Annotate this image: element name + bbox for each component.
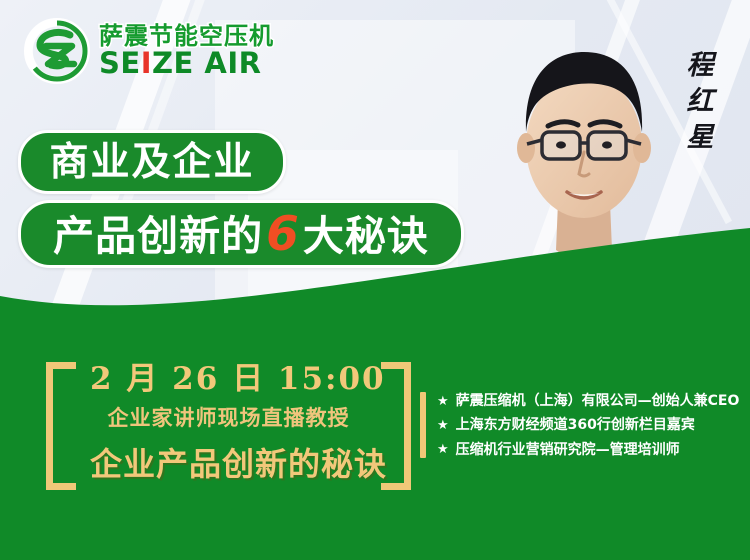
star-icon: ★ (437, 395, 449, 409)
speaker-name-char: 红 (687, 88, 714, 115)
brand-name-en-part2: ZE AIR (152, 46, 262, 80)
headline-line-2-before: 产品创新的 (53, 212, 263, 260)
star-icon: ★ (437, 443, 449, 457)
headline-line-2-after: 大秘诀 (303, 212, 429, 260)
event-info-block: 2 月 26 日 15:00 企业家讲师现场直播教授 企业产品创新的秘诀 (46, 360, 411, 495)
event-subtitle: 企业家讲师现场直播教授 (90, 402, 367, 432)
speaker-name-char: 星 (687, 124, 714, 151)
headline-line-1: 商业及企业 (49, 143, 254, 182)
headline-pill-1: 商业及企业 (18, 130, 286, 194)
bracket-left (46, 362, 90, 490)
brand-name-cn: 萨震节能空压机 (99, 24, 274, 48)
headline-number: 6 (263, 207, 303, 262)
brand-logo: 萨震节能空压机 SEIZE AIR (24, 18, 274, 84)
credential-item: ★ 萨震压缩机（上海）有限公司—创始人兼CEO (437, 394, 739, 409)
sz-circle-logo-icon (24, 18, 90, 84)
star-icon: ★ (437, 419, 449, 433)
event-date-time: 2 月 26 日 15:00 (90, 362, 367, 396)
credential-item: ★ 上海东方财经频道360行创新栏目嘉宾 (437, 418, 739, 433)
speaker-name-vertical: 程 红 星 (676, 52, 724, 151)
credential-item: ★ 压缩机行业营销研究院—管理培训师 (437, 443, 739, 458)
credentials-accent-bar (420, 392, 426, 458)
brand-name-en-part1: SE (99, 46, 141, 80)
credential-text: 萨震压缩机（上海）有限公司—创始人兼CEO (456, 394, 740, 409)
credentials-block: ★ 萨震压缩机（上海）有限公司—创始人兼CEO ★ 上海东方财经频道360行创新… (420, 392, 739, 458)
brand-name-en: SEIZE AIR (99, 49, 274, 78)
headline-line-2: 产品创新的6大秘诀 (53, 211, 429, 258)
credential-text: 上海东方财经频道360行创新栏目嘉宾 (456, 418, 695, 433)
credential-text: 压缩机行业营销研究院—管理培训师 (456, 443, 680, 458)
promo-banner: 萨震节能空压机 SEIZE AIR 商业及企业 产品创新的6大秘诀 程 红 星 … (0, 0, 750, 560)
speaker-name-char: 程 (687, 52, 714, 79)
headline-pill-2: 产品创新的6大秘诀 (18, 200, 464, 268)
brand-name-en-accent: I (141, 46, 152, 80)
event-topic: 企业产品创新的秘诀 (90, 439, 367, 485)
